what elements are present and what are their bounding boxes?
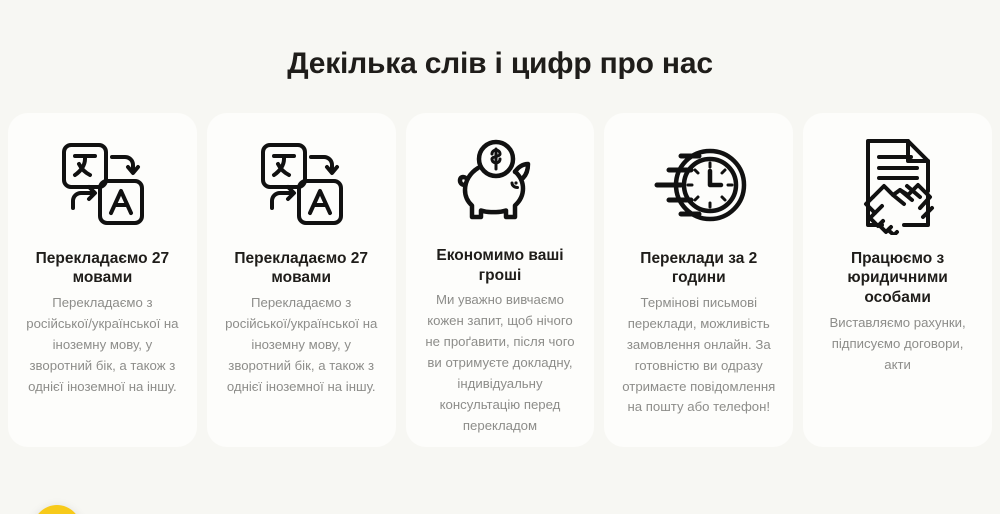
card-text: Ми уважно вивчаємо кожен запит, щоб нічо… — [420, 290, 581, 436]
translate-icon — [253, 129, 349, 241]
feature-cards-row: Перекладаємо 27 мовами Перекладаємо з ро… — [0, 113, 1000, 447]
feature-card: Працюємо з юридичними особами Виставляєм… — [803, 113, 992, 447]
feature-card: Переклади за 2 години Термінові письмові… — [604, 113, 793, 447]
card-text: Перекладаємо з російської/української на… — [22, 293, 183, 397]
card-text: Перекладаємо з російської/української на… — [221, 293, 382, 397]
card-title: Переклади за 2 години — [618, 249, 779, 289]
page-title: Декілька слів і цифр про нас — [0, 0, 1000, 82]
card-title: Перекладаємо 27 мовами — [221, 249, 382, 289]
piggy-bank-icon — [450, 129, 550, 238]
card-title: Перекладаємо 27 мовами — [22, 249, 183, 289]
chat-widget-button[interactable] — [33, 505, 81, 514]
contract-handshake-icon — [850, 129, 946, 241]
translate-icon — [54, 129, 150, 241]
fast-clock-icon — [647, 129, 751, 241]
feature-card: Економимо ваші гроші Ми уважно вивчаємо … — [406, 113, 595, 447]
card-text: Виставляємо рахунки, підписуємо договори… — [817, 313, 978, 376]
card-text: Термінові письмові переклади, можливість… — [618, 293, 779, 418]
card-title: Економимо ваші гроші — [420, 246, 581, 286]
feature-card: Перекладаємо 27 мовами Перекладаємо з ро… — [8, 113, 197, 447]
card-title: Працюємо з юридичними особами — [817, 249, 978, 308]
feature-card: Перекладаємо 27 мовами Перекладаємо з ро… — [207, 113, 396, 447]
